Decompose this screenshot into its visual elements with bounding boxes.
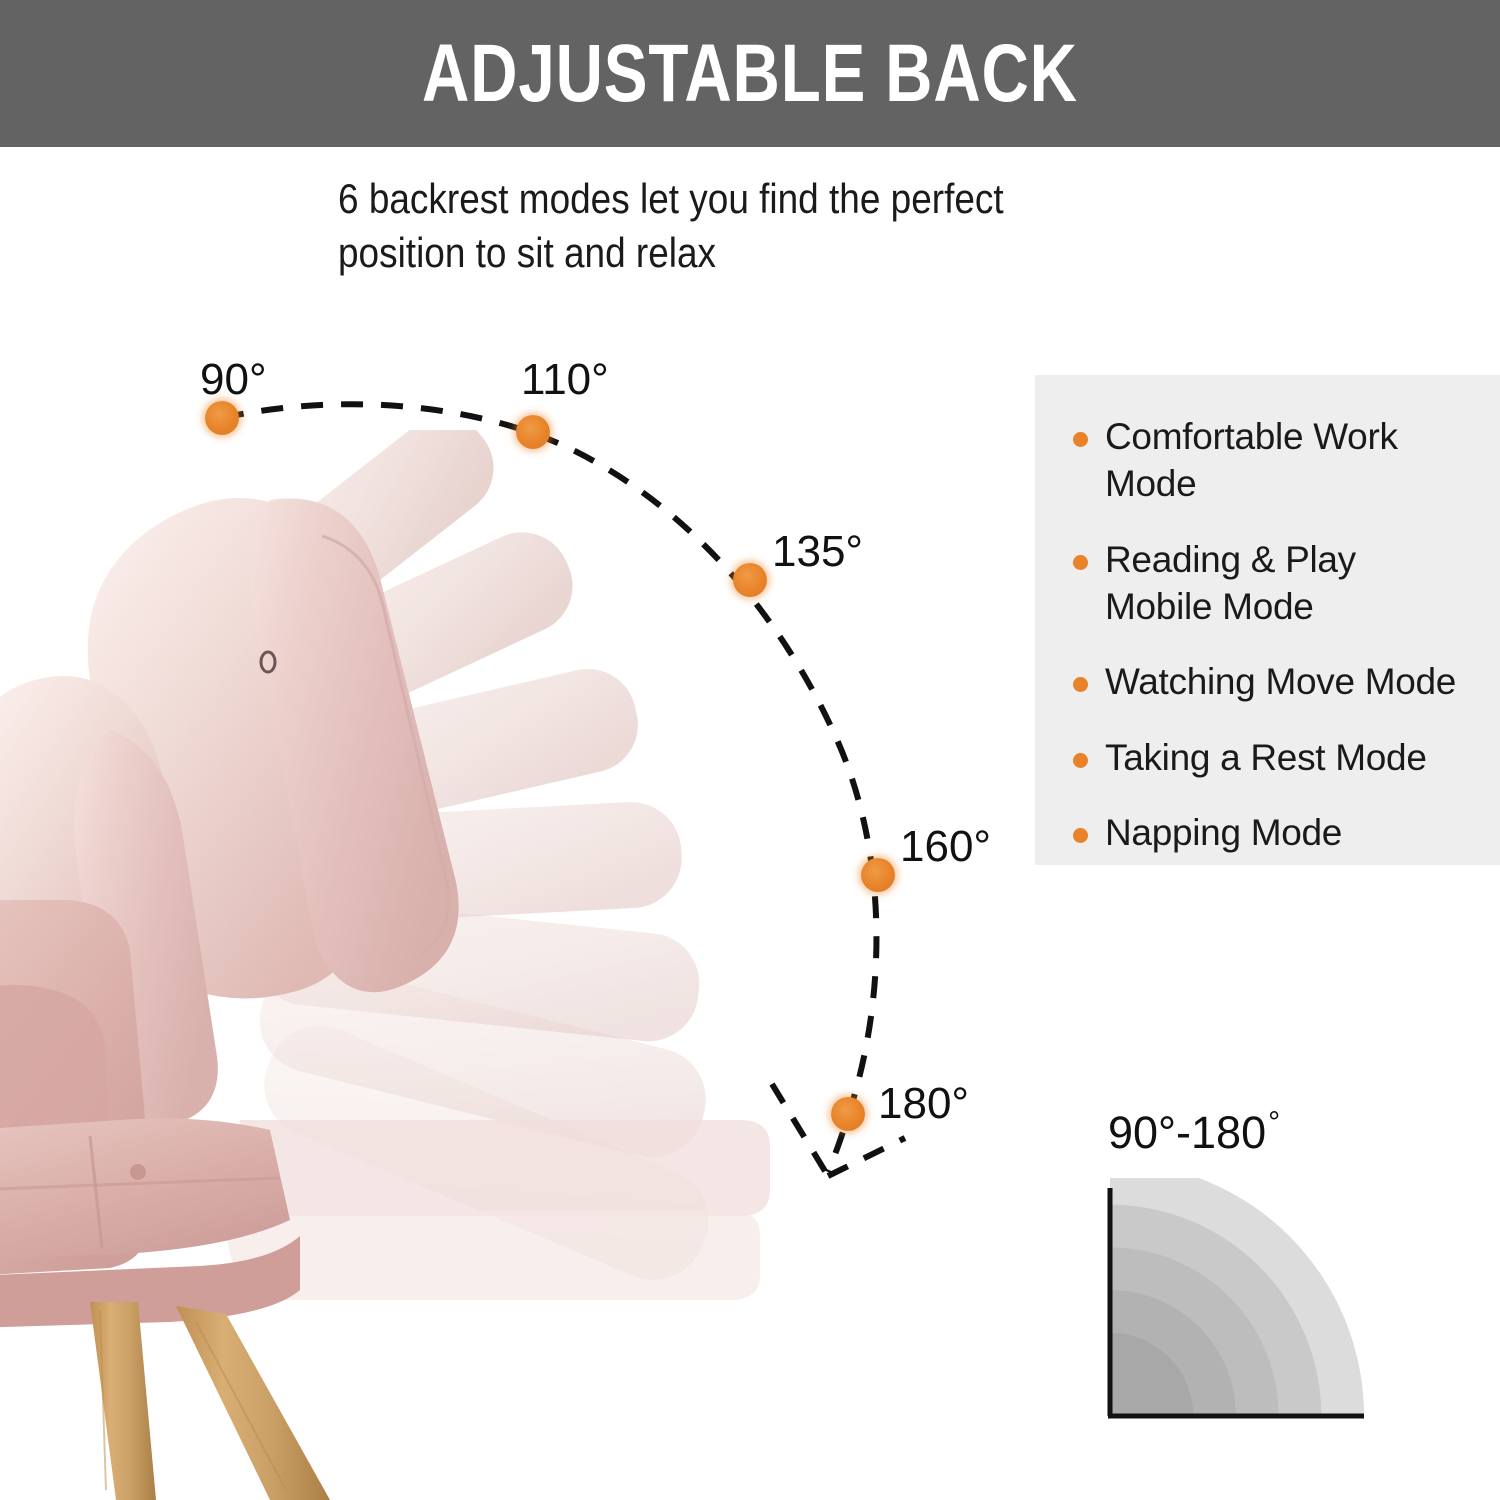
modes-panel: Comfortable Work ModeReading & PlayMobil… <box>1035 375 1500 865</box>
mode-label: Napping Mode <box>1105 809 1342 856</box>
angle-dot-110 <box>516 415 550 449</box>
bullet-dot-icon <box>1073 555 1088 570</box>
header-banner: ADJUSTABLE BACK <box>0 0 1500 147</box>
mode-item: Napping Mode <box>1073 809 1480 856</box>
angle-dot-135 <box>733 563 767 597</box>
range-legend-label-main: 90°-180 <box>1108 1107 1266 1158</box>
bullet-dot-icon <box>1073 828 1088 843</box>
angle-label-180: 180° <box>878 1082 969 1126</box>
bullet-dot-icon <box>1073 432 1088 447</box>
bullet-dot-icon <box>1073 677 1088 692</box>
range-legend: 90°-180° <box>1092 1108 1392 1428</box>
modes-list: Comfortable Work ModeReading & PlayMobil… <box>1073 413 1480 857</box>
mode-label: Comfortable Work Mode <box>1105 413 1480 508</box>
subtitle-line-2: position to sit and relax <box>338 226 1104 280</box>
range-legend-degree-symbol: ° <box>1268 1106 1280 1139</box>
recliner-chair-illustration <box>0 430 790 1500</box>
mode-item: Watching Move Mode <box>1073 658 1480 705</box>
page-title: ADJUSTABLE BACK <box>422 33 1078 115</box>
angle-label-90: 90° <box>200 358 267 402</box>
mode-label: Watching Move Mode <box>1105 658 1456 705</box>
mode-item: Reading & PlayMobile Mode <box>1073 536 1480 631</box>
angle-label-110: 110° <box>521 358 609 402</box>
mode-item: Taking a Rest Mode <box>1073 734 1480 781</box>
subtitle-line-1: 6 backrest modes let you find the perfec… <box>338 172 1104 226</box>
mode-item: Comfortable Work Mode <box>1073 413 1480 508</box>
range-legend-label: 90°-180° <box>1108 1108 1280 1155</box>
quarter-circle-diagram <box>1092 1178 1382 1428</box>
angle-dot-180 <box>831 1097 865 1131</box>
subtitle-block: 6 backrest modes let you find the perfec… <box>338 172 1104 280</box>
bullet-dot-icon <box>1073 753 1088 768</box>
mode-label: Taking a Rest Mode <box>1105 734 1427 781</box>
mode-label: Reading & PlayMobile Mode <box>1105 536 1356 631</box>
infographic-page: ADJUSTABLE BACK 6 backrest modes let you… <box>0 0 1500 1500</box>
angle-label-135: 135° <box>772 530 863 574</box>
angle-dot-90 <box>205 401 239 435</box>
wooden-legs <box>90 1302 330 1500</box>
angle-label-160: 160° <box>900 825 991 869</box>
angle-dot-160 <box>861 858 895 892</box>
